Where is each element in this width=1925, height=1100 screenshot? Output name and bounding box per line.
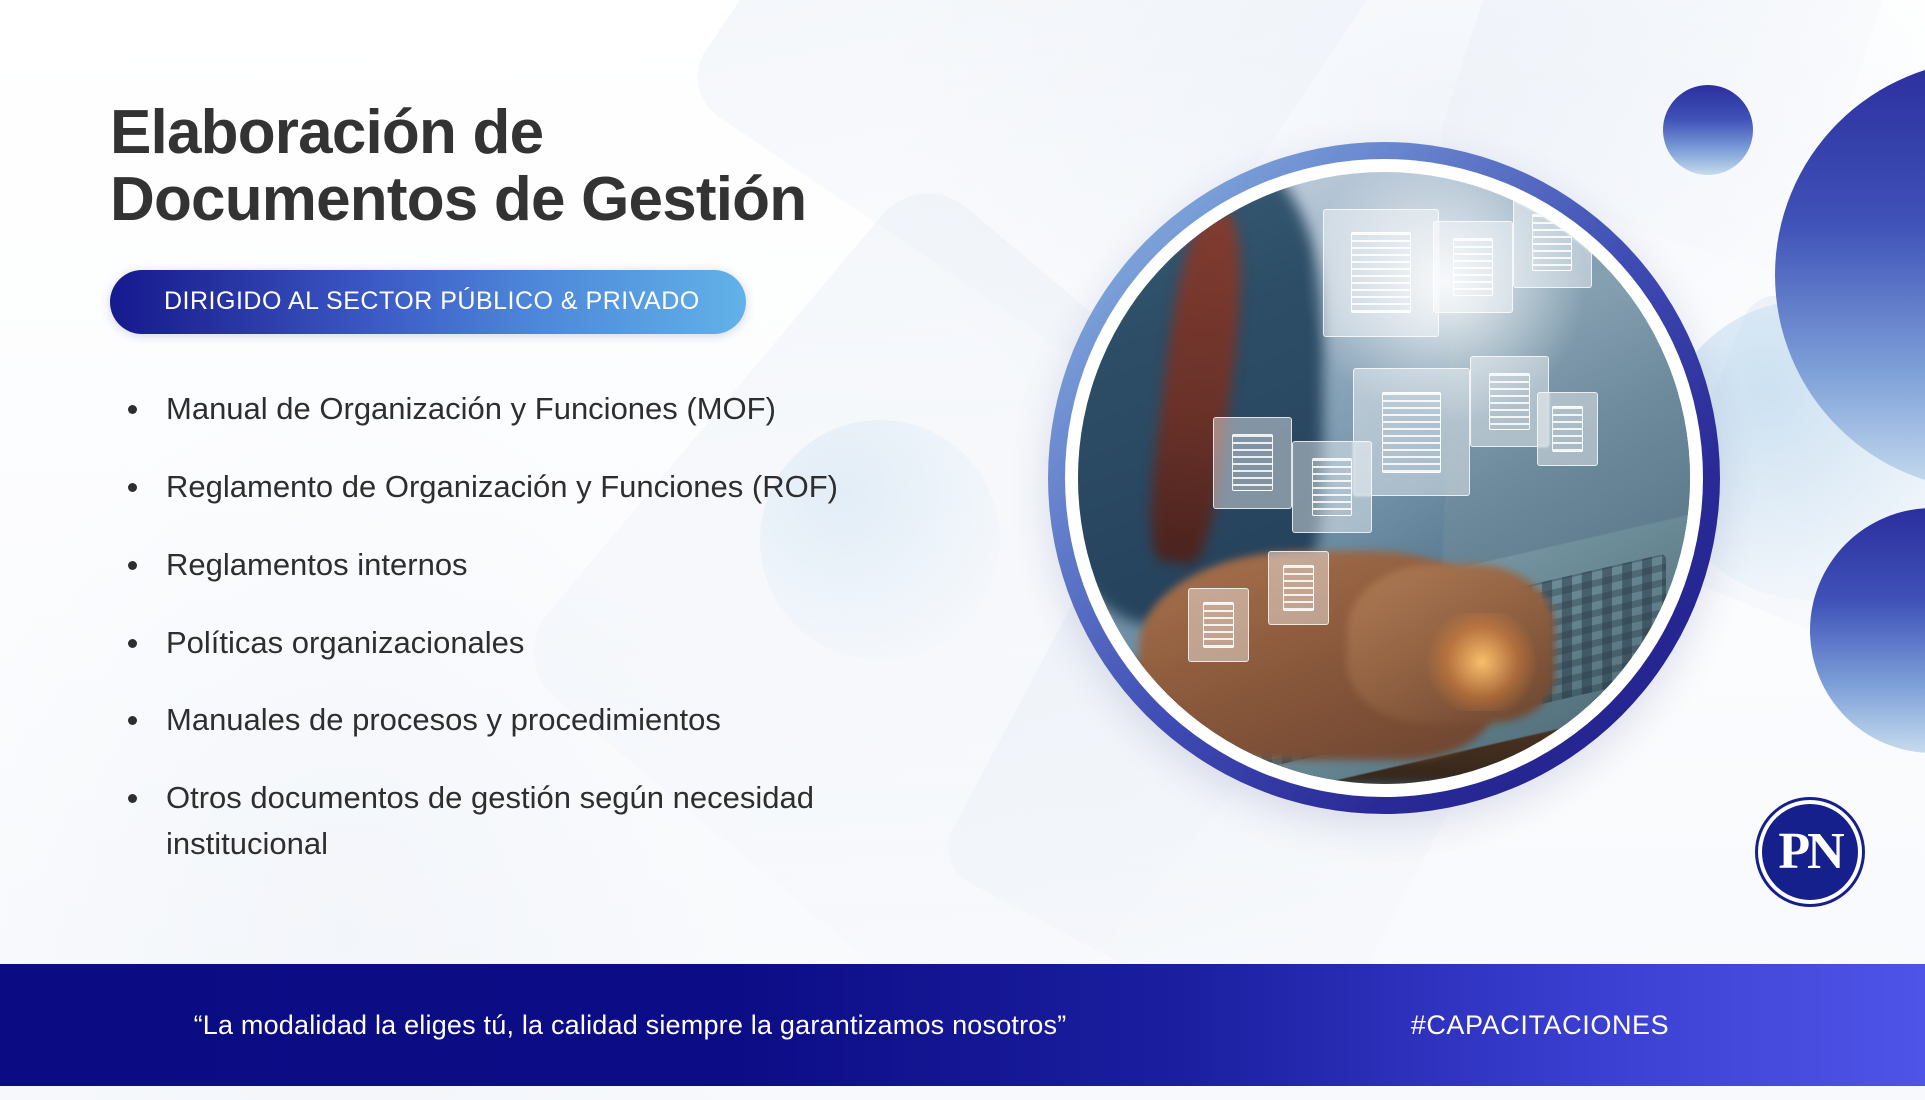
pn-logo: PN	[1758, 800, 1862, 904]
decorative-circle-medium	[1810, 508, 1925, 753]
footer-hashtag: #CAPACITACIONES	[1260, 1010, 1820, 1041]
promo-slide: PN Elaboración de Documentos de Gestión …	[0, 0, 1925, 1100]
page-title-line-1: Elaboración de	[110, 100, 1050, 167]
pn-logo-text: PN	[1778, 826, 1841, 878]
list-item: Manuales de procesos y procedimientos	[110, 697, 970, 743]
footer-quote: “La modalidad la eliges tú, la calidad s…	[0, 1010, 1260, 1041]
list-item: Reglamento de Organización y Funciones (…	[110, 464, 970, 510]
content-column: Elaboración de Documentos de Gestión DIR…	[110, 100, 1050, 867]
document-icon	[1292, 441, 1372, 533]
page-title: Elaboración de Documentos de Gestión	[110, 100, 1050, 234]
list-item: Otros documentos de gestión según necesi…	[110, 775, 970, 867]
decorative-circle-small	[1663, 85, 1753, 175]
decorative-circle-large	[1775, 60, 1925, 490]
document-icon	[1268, 551, 1329, 624]
list-item: Reglamentos internos	[110, 542, 970, 588]
audience-badge-label: DIRIGIDO AL SECTOR PÚBLICO & PRIVADO	[164, 287, 700, 316]
laptop-documents-photo	[1078, 172, 1690, 784]
list-item: Manual de Organización y Funciones (MOF)	[110, 386, 970, 432]
page-title-line-2: Documentos de Gestión	[110, 167, 1050, 234]
photo-light-spark	[1421, 613, 1543, 711]
document-icon	[1513, 196, 1593, 288]
document-icon	[1323, 209, 1439, 338]
audience-badge: DIRIGIDO AL SECTOR PÚBLICO & PRIVADO	[110, 270, 746, 334]
topics-list: Manual de Organización y Funciones (MOF)…	[110, 386, 1050, 867]
list-item: Políticas organizacionales	[110, 620, 970, 666]
document-icon	[1537, 392, 1598, 465]
document-icon	[1433, 221, 1513, 313]
document-icon	[1188, 588, 1249, 661]
document-icon	[1213, 417, 1293, 509]
photo-white-ring	[1065, 159, 1703, 797]
photo-ring-frame	[1048, 142, 1720, 814]
footer-bar: “La modalidad la eliges tú, la calidad s…	[0, 964, 1925, 1086]
